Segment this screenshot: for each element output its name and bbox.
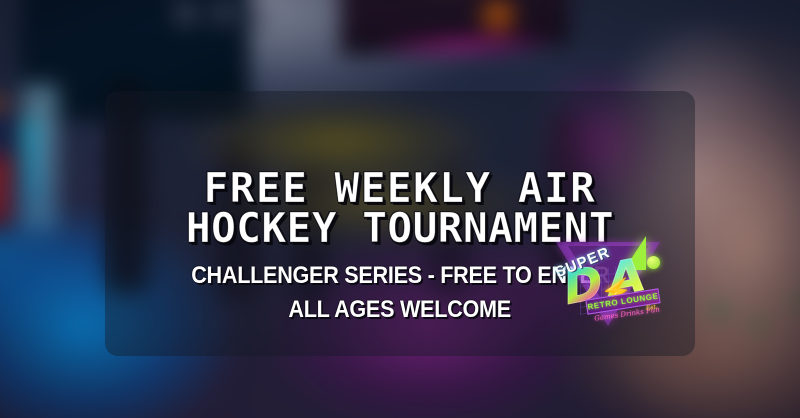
- super-dad-retro-lounge-logo: D A ⚡ SUPER RETRO LOUNGE Games Drinks Fu…: [550, 232, 666, 336]
- poster-image: FREE WEEKLY AIR HOCKEY TOURNAMENT CHALLE…: [0, 0, 800, 418]
- logo-sphere-icon: [647, 256, 660, 269]
